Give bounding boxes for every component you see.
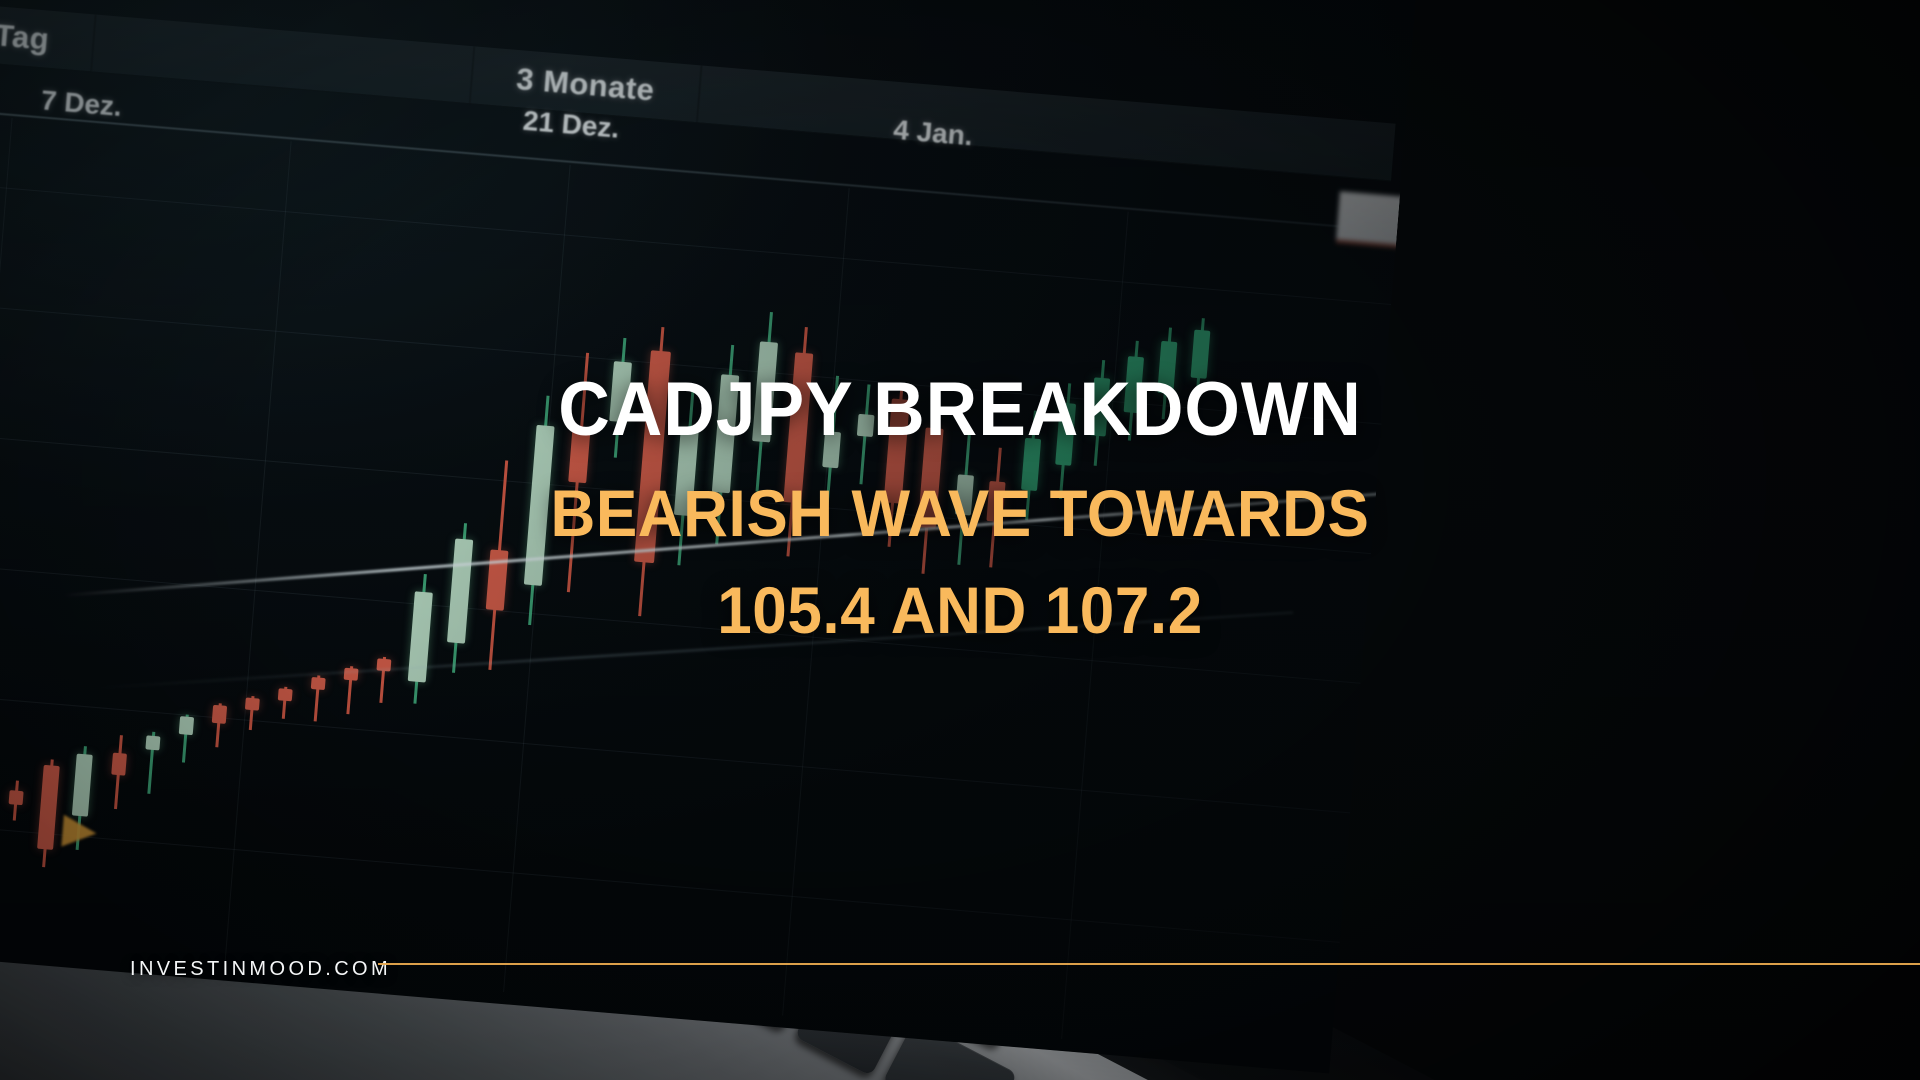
footer-divider [378,963,1920,965]
subtitle-line-2: 105.4 AND 107.2 [58,572,1863,648]
brand-watermark: INVESTINMOOD.COM [130,958,391,981]
page-title: CADJPY BREAKDOWN [58,366,1863,453]
subtitle-line-1: BEARISH WAVE TOWARDS [58,475,1863,551]
text-overlay: CADJPY BREAKDOWN BEARISH WAVE TOWARDS 10… [0,0,1920,1080]
poster-canvas: MacBook Pro F4 F5 F6 % 6 A [0,0,1920,1080]
